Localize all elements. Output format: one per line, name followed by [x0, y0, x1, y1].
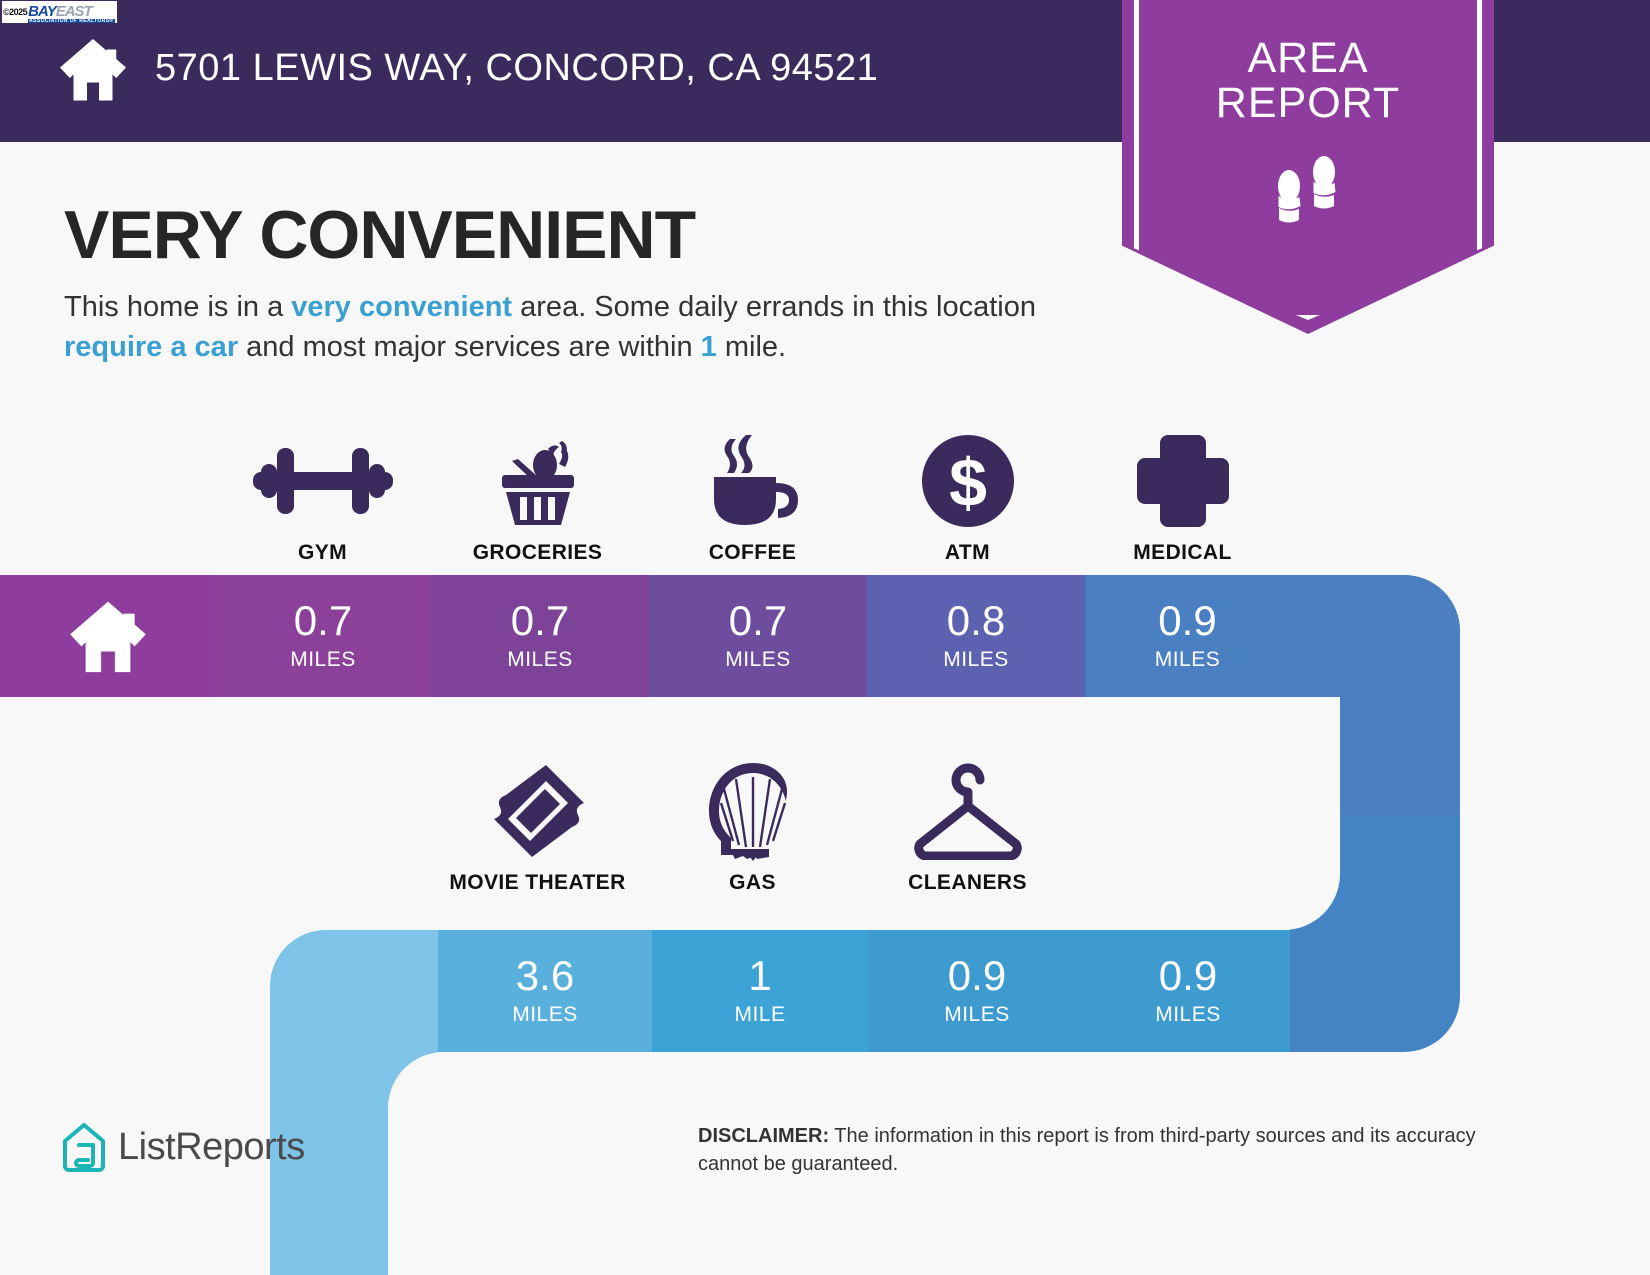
- area-report-badge: AREA REPORT: [1122, 0, 1494, 334]
- summary-part4: mile.: [717, 331, 786, 363]
- distance-value: 0.7: [511, 600, 569, 642]
- amenity-label: COFFEE: [709, 541, 797, 565]
- home-icon: [65, 598, 151, 674]
- grocery-basket-icon: [482, 435, 594, 527]
- distance-unit: MILES: [290, 648, 356, 672]
- distance-unit: MILES: [944, 1003, 1010, 1027]
- listreports-wordmark: ListReports: [118, 1126, 305, 1169]
- badge-title: AREA REPORT: [1122, 36, 1494, 126]
- distance-value: 0.9: [948, 955, 1006, 997]
- distance-segment-gas: 1 MILE: [652, 930, 868, 1052]
- home-icon: [55, 36, 131, 102]
- summary-part3: and most major services are within: [238, 331, 701, 363]
- mls-association-logo: ©2025 BAYEAST ASSOCIATION OF REALTORS®: [2, 1, 117, 23]
- distance-segment-groceries: 0.7 MILES: [431, 575, 649, 697]
- mls-tagline: ASSOCIATION OF REALTORS®: [28, 19, 114, 23]
- summary-highlight-convenient: very convenient: [291, 291, 512, 323]
- track-right-notch: [1120, 697, 1340, 930]
- distance-value: 1: [748, 955, 771, 997]
- distance-unit: MILE: [734, 1003, 785, 1027]
- mls-brandmark: BAYEAST ASSOCIATION OF REALTORS®: [28, 4, 92, 20]
- property-address: 5701 LEWIS WAY, CONCORD, CA 94521: [155, 47, 878, 90]
- amenity-label: GYM: [298, 541, 347, 565]
- summary-part1: This home is in a: [64, 291, 291, 323]
- amenity-label: GROCERIES: [473, 541, 603, 565]
- distance-segment-atm: 0.8 MILES: [867, 575, 1085, 697]
- medical-cross-icon: [1135, 435, 1231, 527]
- distance-unit: MILES: [943, 648, 1009, 672]
- amenity-atm: $ ATM: [860, 425, 1075, 565]
- badge-title-line1: AREA: [1122, 36, 1494, 81]
- summary-part2: area. Some daily errands in this locatio…: [512, 291, 1036, 323]
- distance-segment-medical: 0.9 MILES: [1085, 575, 1290, 697]
- distance-value: 0.7: [729, 600, 787, 642]
- distance-segment-gym: 0.7 MILES: [215, 575, 431, 697]
- distance-value: 3.6: [516, 955, 574, 997]
- listreports-branding: ListReports: [62, 1122, 305, 1172]
- distance-value: 0.7: [294, 600, 352, 642]
- distance-segment-movie-theater: 3.6 MILES: [438, 930, 652, 1052]
- home-marker-segment: [0, 575, 215, 697]
- summary-text: This home is in a very convenient area. …: [64, 287, 1104, 367]
- summary-highlight-distance: 1: [701, 331, 717, 363]
- coffee-cup-icon: [700, 435, 806, 527]
- dumbbell-icon: [253, 435, 393, 527]
- distance-value: 0.9: [1159, 955, 1217, 997]
- mls-copyright: ©2025: [2, 8, 27, 17]
- distance-unit: MILES: [1155, 648, 1221, 672]
- distance-segment-pharmacy: 0.9 MILES: [1086, 930, 1290, 1052]
- distance-unit: MILES: [507, 648, 573, 672]
- listreports-house-icon: [62, 1122, 106, 1172]
- distance-value: 0.8: [947, 600, 1005, 642]
- footprints-icon: [1122, 154, 1494, 237]
- distance-segment-coffee: 0.7 MILES: [649, 575, 867, 697]
- amenity-icons-row-1: GYM GROCERIES: [215, 425, 1290, 565]
- amenity-label: MEDICAL: [1133, 541, 1231, 565]
- distance-value: 0.9: [1158, 600, 1216, 642]
- disclaimer-label: DISCLAIMER:: [698, 1125, 829, 1147]
- dollar-circle-icon: $: [920, 435, 1016, 527]
- page-title: VERY CONVENIENT: [64, 196, 695, 274]
- amenity-groceries: GROCERIES: [430, 425, 645, 565]
- svg-text:$: $: [949, 445, 987, 521]
- amenity-coffee: COFFEE: [645, 425, 860, 565]
- disclaimer: DISCLAIMER: The information in this repo…: [698, 1122, 1518, 1179]
- distance-unit: MILES: [512, 1003, 578, 1027]
- summary-highlight-car: require a car: [64, 331, 238, 363]
- amenity-medical: MEDICAL: [1075, 425, 1290, 565]
- amenity-label: ATM: [945, 541, 990, 565]
- distance-unit: MILES: [1155, 1003, 1221, 1027]
- badge-title-line2: REPORT: [1122, 81, 1494, 126]
- amenity-gym: GYM: [215, 425, 430, 565]
- distance-segment-cleaners: 0.9 MILES: [868, 930, 1086, 1052]
- distance-unit: MILES: [725, 648, 791, 672]
